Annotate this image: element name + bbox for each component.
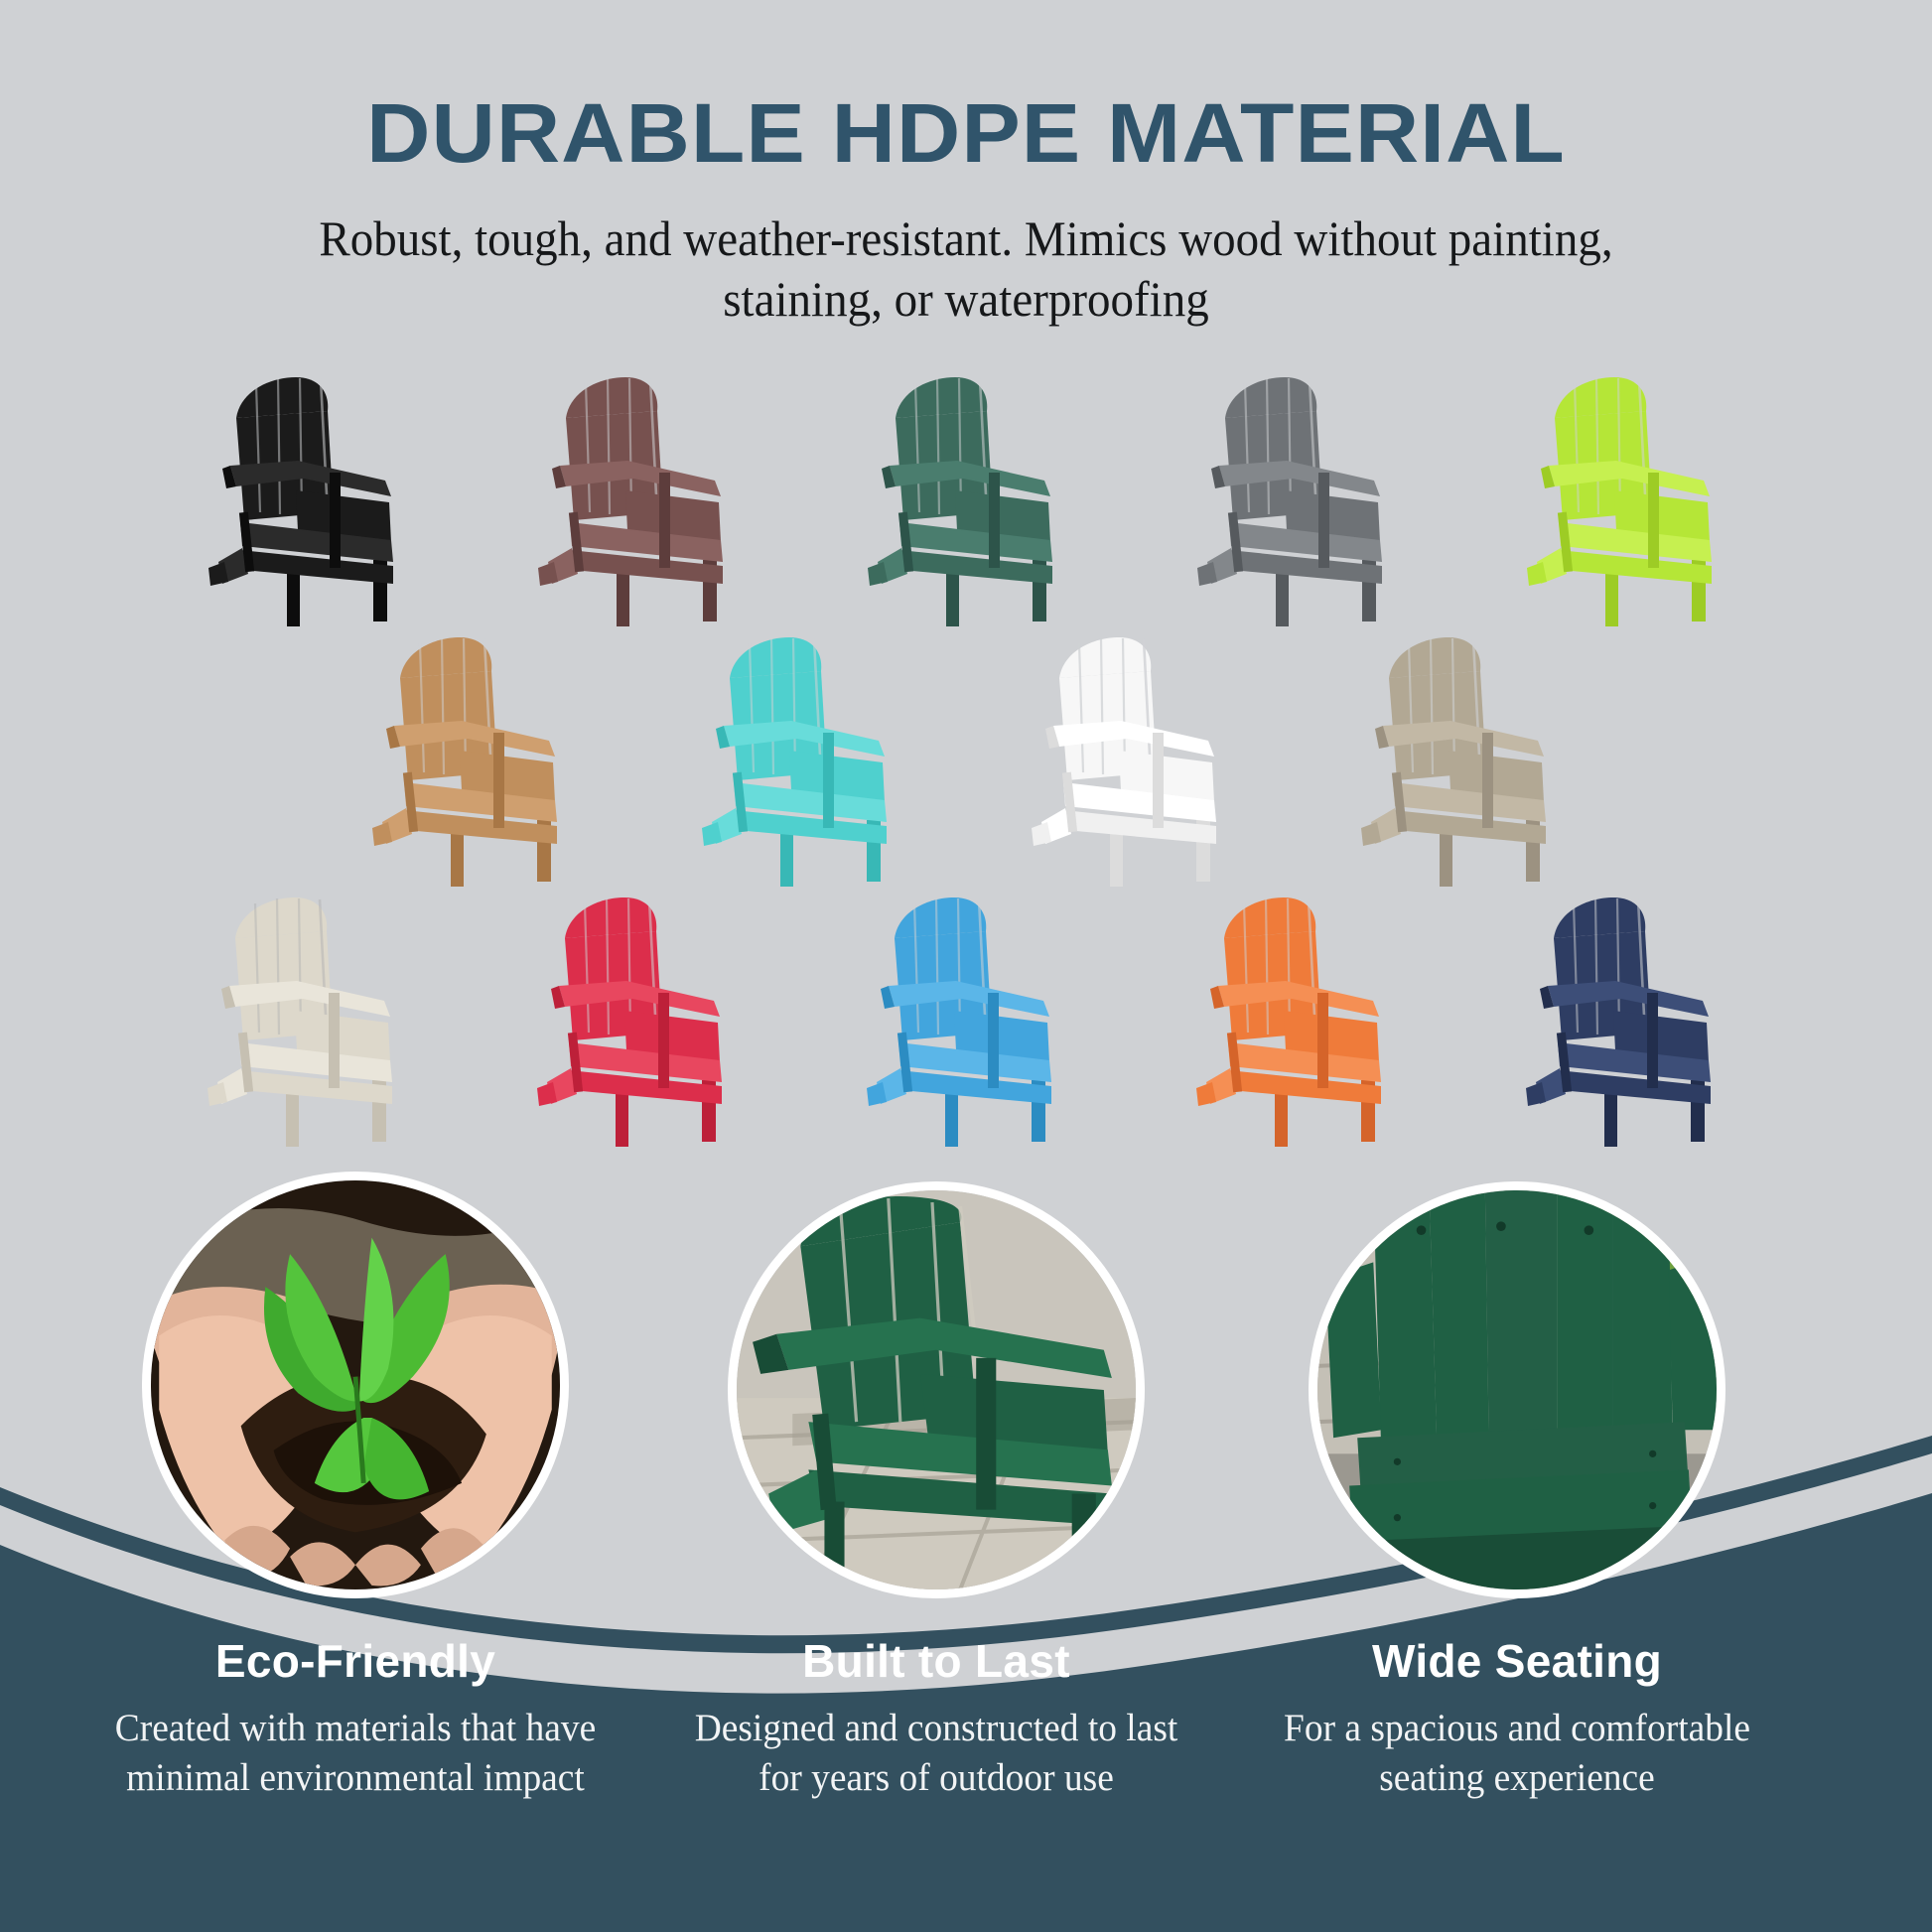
adirondack-chair-weathered-wood[interactable] (1331, 623, 1599, 890)
feature-body: Designed and constructed to last for yea… (669, 1704, 1203, 1803)
adirondack-chair-lime-green[interactable] (1497, 363, 1765, 629)
feature-body: Created with materials that have minimal… (88, 1704, 622, 1803)
chair-cell-brown[interactable] (508, 363, 776, 629)
chair-row-3 (10, 884, 1932, 1150)
chair-cell-dark-green[interactable] (838, 363, 1106, 629)
chair-cell-weathered-wood[interactable] (1331, 623, 1599, 890)
feature-built-to-last: Built to Last Designed and constructed t… (658, 1181, 1214, 1803)
infographic-canvas: DURABLE HDPE MATERIAL Robust, tough, and… (0, 0, 1932, 1932)
adirondack-chair-light-blue[interactable] (837, 884, 1105, 1150)
adirondack-chair-red[interactable] (507, 884, 775, 1150)
adirondack-chair-white[interactable] (1002, 623, 1270, 890)
adirondack-chair-dark-green[interactable] (838, 363, 1106, 629)
chair-cell-teak[interactable] (343, 623, 611, 890)
chair-cell-gray[interactable] (1168, 363, 1436, 629)
chair-cell-ivory[interactable] (178, 884, 446, 1150)
page-subtitle: Robust, tough, and weather-resistant. Mi… (318, 175, 1615, 330)
page-title: DURABLE HDPE MATERIAL (0, 0, 1932, 175)
chair-cell-white[interactable] (1002, 623, 1270, 890)
chair-cell-black[interactable] (179, 363, 447, 629)
feature-body: For a spacious and comfortable seating e… (1250, 1704, 1784, 1803)
green-adirondack-chair-photo-icon (728, 1181, 1145, 1598)
adirondack-chair-navy[interactable] (1496, 884, 1764, 1150)
chair-cell-lime-green[interactable] (1497, 363, 1765, 629)
chair-cell-red[interactable] (507, 884, 775, 1150)
adirondack-chair-gray[interactable] (1168, 363, 1436, 629)
feature-wide-seating: Wide Seating For a spacious and comforta… (1239, 1181, 1795, 1803)
feature-eco-friendly: Eco-Friendly Created with materials that… (77, 1172, 633, 1803)
adirondack-chair-orange[interactable] (1167, 884, 1435, 1150)
feature-row: Eco-Friendly Created with materials that… (0, 1172, 1932, 1932)
wide-seat-closeup-photo-icon (1309, 1181, 1725, 1598)
feature-heading: Wide Seating (1239, 1634, 1795, 1688)
header-block: DURABLE HDPE MATERIAL Robust, tough, and… (0, 0, 1932, 330)
adirondack-chair-black[interactable] (179, 363, 447, 629)
adirondack-chair-brown[interactable] (508, 363, 776, 629)
feature-heading: Built to Last (658, 1634, 1214, 1688)
chair-cell-turquoise[interactable] (672, 623, 940, 890)
feature-heading: Eco-Friendly (77, 1634, 633, 1688)
chair-row-1 (12, 363, 1932, 629)
chair-color-grid (0, 363, 1932, 1150)
chair-cell-light-blue[interactable] (837, 884, 1105, 1150)
chair-cell-orange[interactable] (1167, 884, 1435, 1150)
chair-cell-navy[interactable] (1496, 884, 1764, 1150)
adirondack-chair-teak[interactable] (343, 623, 611, 890)
adirondack-chair-ivory[interactable] (178, 884, 446, 1150)
adirondack-chair-turquoise[interactable] (672, 623, 940, 890)
seedling-in-hands-photo-icon (142, 1172, 569, 1598)
chair-row-2 (10, 623, 1932, 890)
